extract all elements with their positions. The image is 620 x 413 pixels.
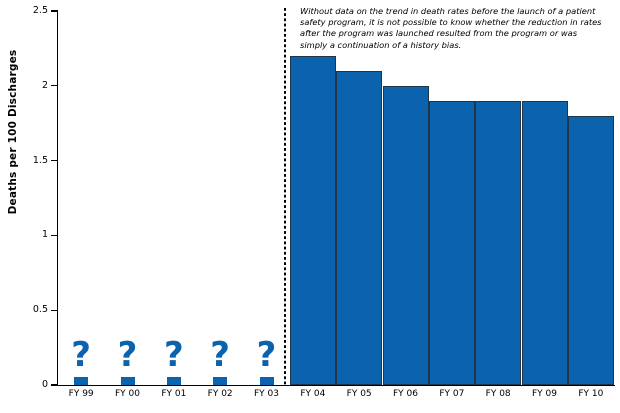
y-axis-tick	[51, 10, 58, 11]
bar	[568, 116, 614, 385]
y-axis-tick	[51, 85, 58, 86]
y-axis-tick-label: 1.5	[8, 156, 48, 166]
bar	[522, 101, 568, 385]
x-axis-tick-label: FY 03	[242, 390, 292, 400]
y-axis-tick-label: 0.5	[8, 305, 48, 315]
y-axis-line	[57, 11, 58, 385]
missing-data-question-mark: ?	[66, 338, 96, 372]
bar	[290, 56, 336, 385]
bar	[336, 71, 382, 385]
y-axis-tick-label: 2	[8, 81, 48, 91]
y-axis-tick-label: 1	[8, 230, 48, 240]
x-axis-tick-label: FY 09	[520, 390, 570, 400]
y-axis-tick	[51, 310, 58, 311]
missing-data-question-mark: ?	[159, 338, 189, 372]
bar-chart: Deaths per 100 Discharges 2.521.510.50 ?…	[0, 0, 620, 413]
x-axis-tick-label: FY 05	[334, 390, 384, 400]
bar	[429, 101, 475, 385]
y-axis-title: Deaths per 100 Discharges	[7, 0, 19, 297]
x-axis-tick-label: FY 08	[473, 390, 523, 400]
program-launch-divider	[284, 8, 286, 385]
missing-data-question-mark: ?	[205, 338, 235, 372]
y-axis-tick	[51, 235, 58, 236]
missing-data-stub	[213, 377, 227, 385]
missing-data-stub	[121, 377, 135, 385]
x-axis-tick-label: FY 04	[288, 390, 338, 400]
x-axis-line	[57, 385, 615, 386]
bar	[383, 86, 429, 385]
x-axis-tick-label: FY 99	[56, 390, 106, 400]
x-axis-tick-label: FY 07	[427, 390, 477, 400]
missing-data-stub	[74, 377, 88, 385]
history-bias-annotation: Without data on the trend in death rates…	[300, 6, 605, 51]
missing-data-question-mark: ?	[252, 338, 282, 372]
y-axis-tick	[51, 160, 58, 161]
missing-data-question-mark: ?	[113, 338, 143, 372]
missing-data-stub	[167, 377, 181, 385]
x-axis-tick-label: FY 06	[381, 390, 431, 400]
bar	[475, 101, 521, 385]
y-axis-tick-label: 2.5	[8, 6, 48, 16]
y-axis-tick-label: 0	[8, 380, 48, 390]
x-axis-tick-label: FY 00	[103, 390, 153, 400]
x-axis-tick-label: FY 02	[195, 390, 245, 400]
x-axis-tick-label: FY 01	[149, 390, 199, 400]
y-axis-tick	[51, 384, 58, 385]
x-axis-tick-label: FY 10	[566, 390, 616, 400]
missing-data-stub	[260, 377, 274, 385]
